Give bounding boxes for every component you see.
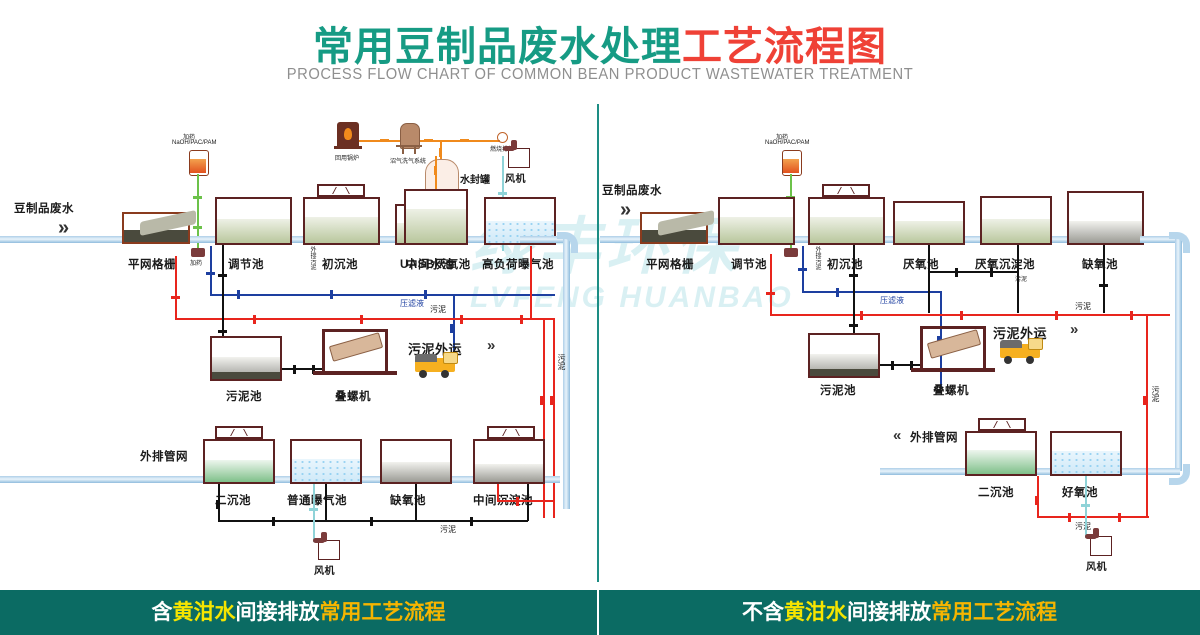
truck-wheel-r2: [1026, 356, 1034, 364]
tank-equalization-r[interactable]: [718, 197, 795, 245]
influent-label-l: 豆制品废水: [14, 200, 74, 216]
tank-uasb-l[interactable]: [404, 189, 468, 245]
water-elbow-corner-r: [1169, 232, 1190, 253]
title-red-part: 工艺流程图: [682, 25, 887, 69]
footer-right-w2: 间接排放: [847, 601, 931, 624]
anaerobic-sludge-valve-r1: [955, 268, 958, 277]
sludge-label-r-top: 污泥: [1075, 301, 1091, 312]
filtrate-valve-l3: [424, 290, 427, 299]
footer-left-y2: 常用工艺流程: [320, 601, 446, 624]
tank-aeration-l[interactable]: [290, 439, 362, 484]
sludge-valve-r1: [766, 292, 775, 295]
sludge-out-chevron-r: »: [1070, 322, 1078, 337]
boiler-flame-icon: [344, 128, 352, 140]
external-sludge-label-l: 外排污泥: [308, 246, 317, 276]
air-pipe-l-bottom: [313, 484, 315, 542]
press-base-r: [911, 368, 995, 372]
uasb-gas-valve: [434, 166, 437, 175]
footer-right-w1: 不含: [742, 601, 784, 624]
sludge-valve-l1: [171, 296, 180, 299]
sludge-valve-r5: [1130, 311, 1133, 320]
sludge-out-chevron-l: »: [487, 338, 495, 353]
press-post-r2: [983, 326, 986, 368]
equalization-label-r: 调节池: [731, 256, 767, 272]
filtrate-valve-l2: [330, 290, 333, 299]
sludge-valve-l2: [253, 315, 256, 324]
biogas-pipe-h2: [440, 140, 500, 142]
truck-load-r: [1000, 340, 1022, 348]
red-join-l: [543, 516, 545, 518]
blower-bottom-fan-icon-l: [313, 538, 325, 543]
sludge-vert-label-l: 污泥: [556, 354, 567, 382]
filtrate-valve-r0: [798, 268, 807, 271]
dosing-valve-l1: [193, 196, 202, 199]
primary-sed-label-r: 初沉池: [827, 256, 863, 272]
dosing-tank-liquid-l: [190, 159, 206, 173]
tank-anaerobic-r[interactable]: [893, 201, 965, 245]
tank-anaerobic-sed-r[interactable]: [980, 196, 1052, 245]
anoxic-label-l: 缺氧池: [390, 492, 426, 508]
sludge-valve-l3: [360, 315, 363, 324]
footer-left-text: 含黄泔水间接排放常用工艺流程: [0, 590, 597, 635]
bottom-sludge-label-l: 污泥: [440, 524, 456, 535]
sludge-valve-r6: [1143, 396, 1146, 405]
bottom-sludge-riser-l3: [415, 484, 417, 521]
bridge-mid-sed-l: [487, 426, 535, 439]
footer-left-w1: 含: [152, 601, 173, 624]
bottom-red-valve-r2: [1068, 513, 1071, 522]
sludge-return-riser-l: [175, 256, 177, 319]
tank-mid-sed-l[interactable]: [473, 439, 545, 484]
scrubber-base: [396, 145, 422, 147]
effluent-label-l: 外排管网: [140, 448, 188, 464]
sludge-tank-label-r: 污泥池: [820, 382, 856, 398]
sludge-valve-r2: [860, 311, 863, 320]
sludge-vert-l-a: [543, 318, 545, 518]
screw-press-drum-r: [927, 329, 981, 359]
red-mid-sed-return-l: [497, 500, 545, 502]
effluent-text-r: 外排管网: [910, 429, 958, 445]
tank-sludge-r[interactable]: [808, 333, 880, 378]
sludge-valve-r4: [1055, 311, 1058, 320]
secondary-sed-label-r: 二沉池: [978, 484, 1014, 500]
filtrate-valve-l0: [206, 272, 215, 275]
filtrate-line-r: [802, 291, 942, 293]
blower-bottom-body-r: [1090, 536, 1112, 556]
anoxic-sludge-valve-r: [1099, 284, 1108, 287]
sludge-drop-r: [853, 245, 855, 345]
sludge-vert-label-r: 污泥: [1150, 386, 1161, 414]
bottom-sludge-riser-l2: [325, 484, 327, 521]
bottom-sludge-valve-l2: [272, 517, 275, 526]
anaerobic-sludge-drop-r: [928, 245, 930, 313]
grille-label-r: 平网格栅: [646, 256, 694, 272]
water-elbow-corner-r2: [1169, 464, 1190, 485]
boiler-label: 回用锅炉: [335, 153, 359, 162]
aeration-label-l: 普通曝气池: [287, 492, 347, 508]
press-label-r: 叠螺机: [933, 382, 969, 398]
footer-left-w2: 间接排放: [236, 601, 320, 624]
scrubber-leg-r: [414, 147, 416, 154]
sludge-valve-r3: [960, 311, 963, 320]
secondary-sed-label-l: 二沉池: [215, 492, 251, 508]
filtrate-valve-l1: [237, 290, 240, 299]
tank-primary-sed-l[interactable]: [303, 197, 380, 245]
air-valve-l-bottom: [309, 508, 318, 511]
filtrate-line-l: [210, 294, 555, 296]
anaerobic-sed-label-r: 厌氧沉淀池: [975, 256, 1035, 272]
biogas-valve-3: [460, 139, 469, 142]
tank-anoxic-r[interactable]: [1067, 191, 1144, 245]
sludge-press-valve-l1: [293, 365, 296, 374]
bottom-red-valve-r1: [1035, 496, 1038, 505]
bottom-sludge-valve-l1: [216, 500, 219, 509]
bottom-sludge-valve-l4: [470, 517, 473, 526]
bridge-primary-l: [317, 184, 365, 197]
title-green-part: 常用豆制品废水处理: [313, 25, 682, 69]
air-pipe-r-bottom: [1085, 476, 1087, 538]
blower-bottom-label-r: 风机: [1086, 558, 1107, 573]
high-load-aeration-label-l: 高负荷曝气池: [482, 256, 554, 272]
waterseal-label: 水封罐: [460, 171, 490, 186]
tank-sludge-l[interactable]: [210, 336, 282, 381]
sludge-to-press-l: [282, 368, 324, 370]
sludge-drop-valve-l1: [218, 274, 227, 277]
footer-left-y1: 黄泔水: [173, 601, 236, 624]
water-elbow-corner-l: [557, 232, 578, 253]
air-valve-r-bottom: [1081, 504, 1090, 507]
blower-top-body: [508, 148, 530, 168]
air-valve-top: [498, 192, 507, 195]
blower-top-label: 风机: [505, 170, 526, 185]
sludge-valve-l6: [540, 396, 543, 405]
sludge-return-main-r: [770, 314, 1170, 316]
truck-wheel-l2: [441, 370, 449, 378]
blower-top-fan-icon: [503, 146, 515, 151]
dosing-pump-label-l: 加药: [190, 258, 202, 267]
press-label-l: 叠螺机: [335, 388, 371, 404]
dosing-chem-label-l: NaOH/PAC/PAM: [172, 140, 216, 146]
press-post-r: [385, 329, 388, 371]
blower-bottom-body-l: [318, 540, 340, 560]
sludge-valve-l4: [460, 315, 463, 324]
flare-icon: [497, 132, 508, 143]
dosing-chem-label-r: NaOH/PAC/PAM: [765, 140, 809, 146]
tank-secondary-sed-l[interactable]: [203, 439, 275, 484]
sludge-vert-l-b: [553, 318, 555, 518]
blower-bottom-fan-icon-r: [1085, 534, 1097, 539]
bottom-red-valve-r3: [1118, 513, 1121, 522]
water-pipe-r-elbow-v: [1175, 239, 1182, 471]
filtrate-riser-l: [210, 246, 212, 295]
bottom-sludge-valve-l3: [370, 517, 373, 526]
sludge-drop-valve-l2: [218, 330, 227, 333]
anaerobic-label-r: 厌氧池: [903, 256, 939, 272]
boiler-base: [334, 146, 362, 149]
sludge-valve-l7: [550, 396, 553, 405]
press-base-l: [313, 371, 397, 375]
primary-sed-label-l: 初沉池: [322, 256, 358, 272]
sludge-return-main-l: [175, 318, 555, 320]
bridge-primary-r: [822, 184, 870, 197]
tank-equalization-l[interactable]: [215, 197, 292, 245]
grille-label-l: 平网格栅: [128, 256, 176, 272]
tank-aerobic-r[interactable]: [1050, 431, 1122, 476]
footer-right: 不含黄泔水间接排放常用工艺流程: [599, 590, 1200, 635]
sludge-label-l-top: 污泥: [430, 304, 446, 315]
sludge-valve-l5: [520, 315, 523, 324]
bottom-sludge-riser-l4: [527, 484, 529, 521]
anoxic-sludge-drop-r: [1103, 245, 1105, 313]
filtrate-label-l: 压滤液: [400, 298, 424, 309]
page-subtitle: PROCESS FLOW CHART OF COMMON BEAN PRODUC…: [30, 66, 1170, 84]
footer-right-y2: 常用工艺流程: [931, 601, 1057, 624]
sludge-return-riser-r: [770, 254, 772, 315]
page-title: 常用豆制品废水处理工艺流程图: [0, 14, 1200, 72]
red-return-valve-l: [516, 497, 519, 506]
influent-label-r: 豆制品废水: [602, 182, 662, 198]
external-sludge-label-r: 外排污泥: [813, 246, 822, 276]
truck-cab-l: [443, 352, 458, 364]
blower-bottom-label-l: 风机: [314, 562, 335, 577]
truck-cab-r: [1028, 338, 1043, 350]
footer-right-text: 不含黄泔水间接排放常用工艺流程: [599, 590, 1200, 635]
bottom-red-line-r: [1037, 516, 1149, 518]
bottom-sludge-label-r: 污泥: [1075, 521, 1091, 532]
truck-wheel-l1: [419, 370, 427, 378]
anaerobic-sludge-label-r: 污泥: [1015, 274, 1027, 283]
press-post-l: [322, 329, 325, 371]
footer-left: 含黄泔水间接排放常用工艺流程: [0, 590, 597, 635]
uasb-label-l: UASB厌氧池: [400, 256, 471, 272]
press-post-r1: [920, 326, 923, 368]
filtrate-label-r: 压滤液: [880, 295, 904, 306]
biogas-valve-4: [439, 148, 442, 157]
sludge-press-valve-r1: [891, 361, 894, 370]
biogas-valve-1: [380, 139, 389, 142]
equalization-label-l: 调节池: [228, 256, 264, 272]
anaerobic-sludge-link-r: [928, 271, 1019, 273]
bridge-secondary-l: [215, 426, 263, 439]
sludge-drop-valve-r2: [849, 324, 858, 327]
dosing-pump-l: [191, 248, 205, 257]
dosing-pump-r: [784, 248, 798, 257]
bridge-secondary-r: [978, 418, 1026, 431]
truck-wheel-r1: [1004, 356, 1012, 364]
filtrate-valve-r1: [836, 288, 839, 297]
sludge-down-from-aeration-l: [530, 246, 532, 318]
scrubber-leg-l: [402, 147, 404, 154]
sludge-vert-r: [1146, 314, 1148, 516]
influent-chevron-r: »: [620, 200, 631, 220]
aerobic-label-r: 好氧池: [1062, 484, 1098, 500]
tank-secondary-sed-r[interactable]: [965, 431, 1037, 476]
sludge-drop-valve-r1: [849, 274, 858, 277]
page-header: 常用豆制品废水处理工艺流程图 PROCESS FLOW CHART OF COM…: [0, 0, 1200, 96]
influent-chevron-l: »: [58, 218, 69, 238]
dosing-valve-l2: [193, 226, 202, 229]
tank-primary-sed-r[interactable]: [808, 197, 885, 245]
screw-press-drum-l: [329, 332, 383, 362]
anoxic-label-r: 缺氧池: [1082, 256, 1118, 272]
diagram-canvas: 回用锅炉 沼气洗气系统 燃烧排放 水封罐 风机 加药 NaOH/PAC/PAM …: [0, 96, 1200, 590]
biogas-valve-2: [424, 139, 433, 142]
sludge-tank-label-l: 污泥池: [226, 388, 262, 404]
dosing-tank-liquid-r: [783, 159, 799, 173]
tank-anoxic-l[interactable]: [380, 439, 452, 484]
anaerobic-sludge-valve-r2: [990, 268, 993, 277]
footer-right-y1: 黄泔水: [784, 601, 847, 624]
truck-load-l: [415, 354, 437, 362]
bottom-sludge-line-l: [218, 520, 528, 522]
effluent-chevron-r: «: [893, 428, 901, 443]
scrubber-label: 沼气洗气系统: [390, 156, 426, 165]
sludge-to-press-r: [880, 364, 922, 366]
filtrate-valve-l4: [450, 324, 453, 333]
red-mid-sed-riser-l: [497, 484, 499, 501]
